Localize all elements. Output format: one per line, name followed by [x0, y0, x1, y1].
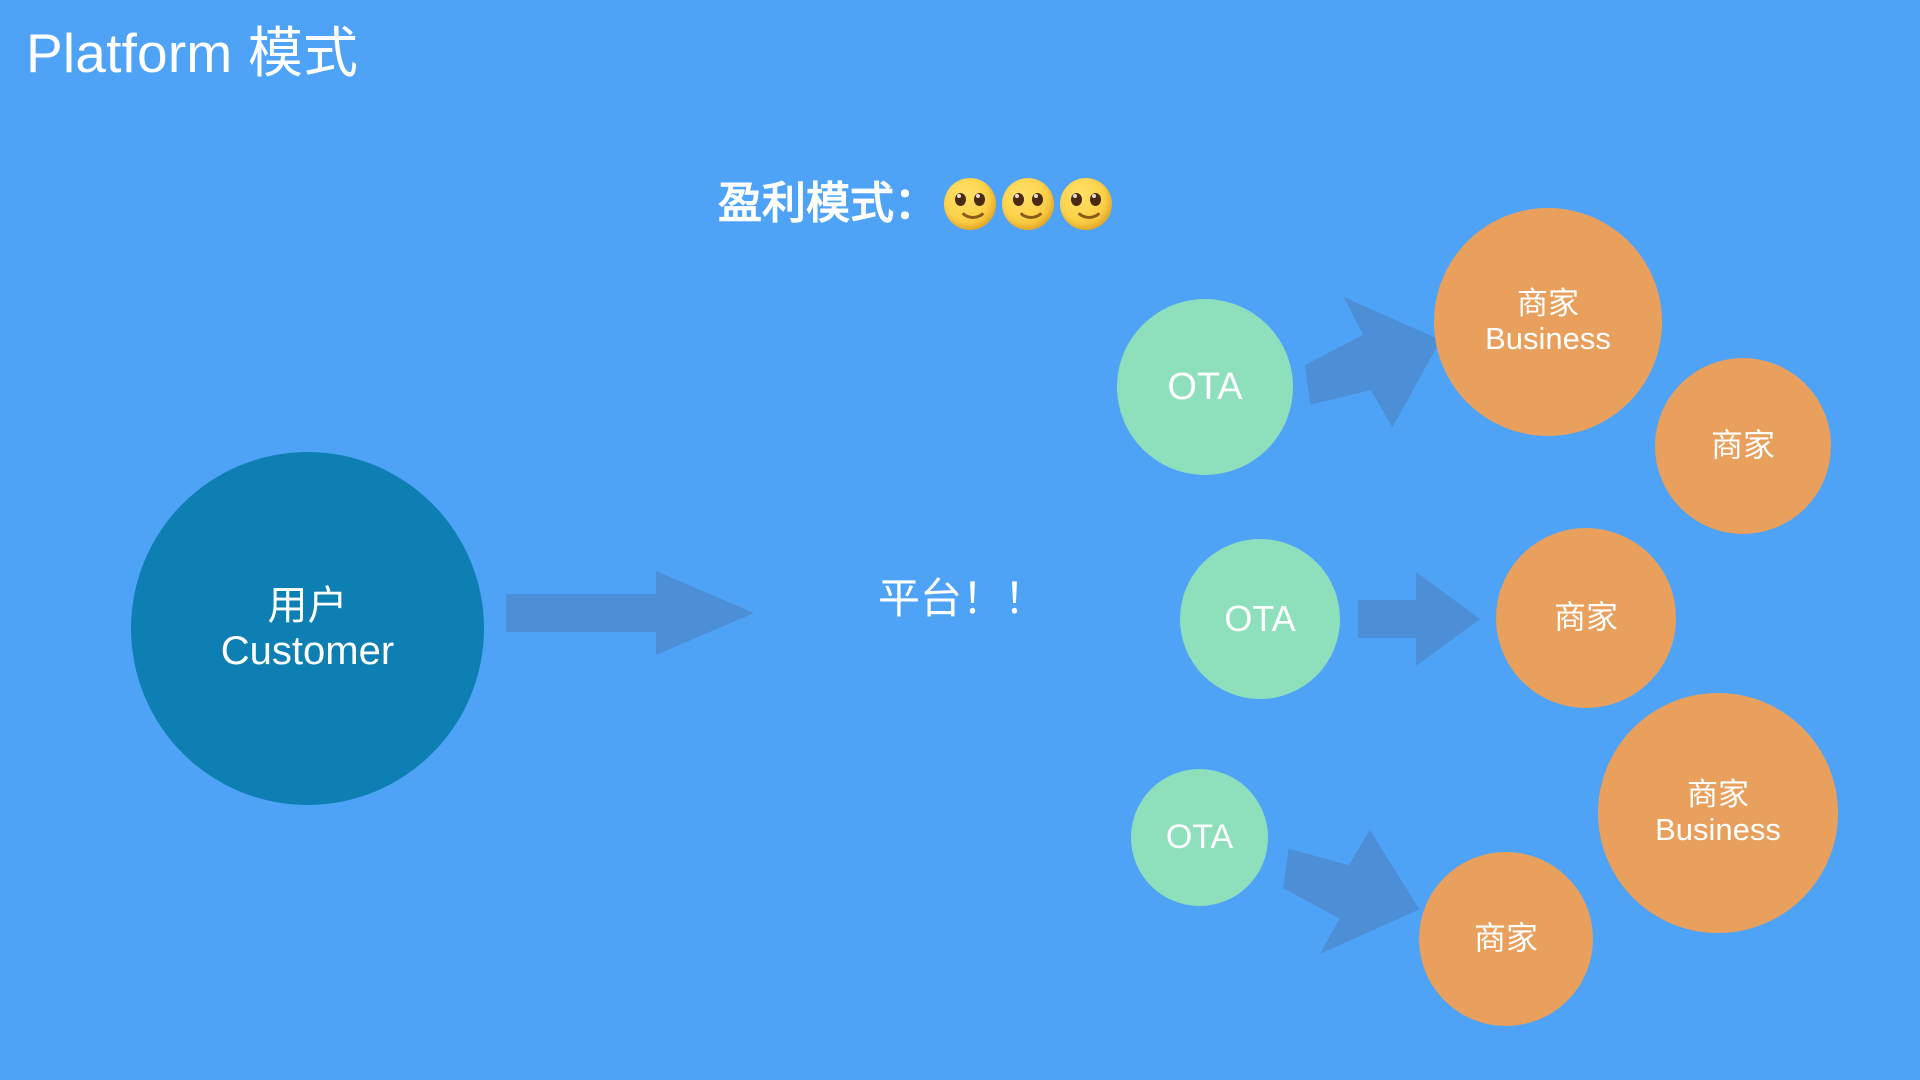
arrow-ota1-to-business1 [1297, 294, 1443, 430]
node-business-5-label: 商家 [1474, 921, 1538, 957]
node-business-1[interactable]: 商家 Business [1434, 208, 1662, 436]
slightly-smiling-face-icon [1002, 178, 1054, 230]
platform-label: 平台！！ [878, 578, 1046, 620]
node-ota-3[interactable]: OTA [1131, 769, 1268, 906]
node-ota-3-label: OTA [1166, 818, 1233, 856]
node-business-1-en: Business [1485, 322, 1611, 357]
node-ota-1[interactable]: OTA [1117, 299, 1293, 475]
node-business-5[interactable]: 商家 [1419, 852, 1593, 1026]
slide-canvas: Platform 模式 盈利模式： 用户 Customer 平台！！ OTA [0, 0, 1920, 1080]
node-business-4-en: Business [1655, 813, 1781, 848]
node-customer-cn: 用户 [268, 584, 348, 629]
node-business-4-cn: 商家 [1687, 778, 1749, 813]
slightly-smiling-face-icon [1060, 178, 1112, 230]
arrow-ota2-to-business3 [1358, 572, 1480, 666]
arrow-ota3-to-business5 [1283, 828, 1423, 958]
node-ota-1-label: OTA [1167, 366, 1242, 409]
node-business-2-label: 商家 [1711, 428, 1775, 464]
node-business-4[interactable]: 商家 Business [1598, 693, 1838, 933]
page-title: Platform 模式 [26, 22, 358, 85]
node-customer-en: Customer [221, 629, 394, 674]
node-business-2[interactable]: 商家 [1655, 358, 1831, 534]
node-business-3-label: 商家 [1554, 600, 1618, 636]
node-ota-2[interactable]: OTA [1180, 539, 1340, 699]
slightly-smiling-face-icon [944, 178, 996, 230]
node-business-3[interactable]: 商家 [1496, 528, 1676, 708]
node-business-1-cn: 商家 [1517, 287, 1579, 322]
profit-model-label: 盈利模式： [718, 182, 938, 226]
arrow-customer-to-platform [506, 571, 754, 655]
node-ota-2-label: OTA [1224, 599, 1295, 639]
profit-model-caption: 盈利模式： [718, 178, 1112, 230]
node-customer[interactable]: 用户 Customer [131, 452, 484, 805]
